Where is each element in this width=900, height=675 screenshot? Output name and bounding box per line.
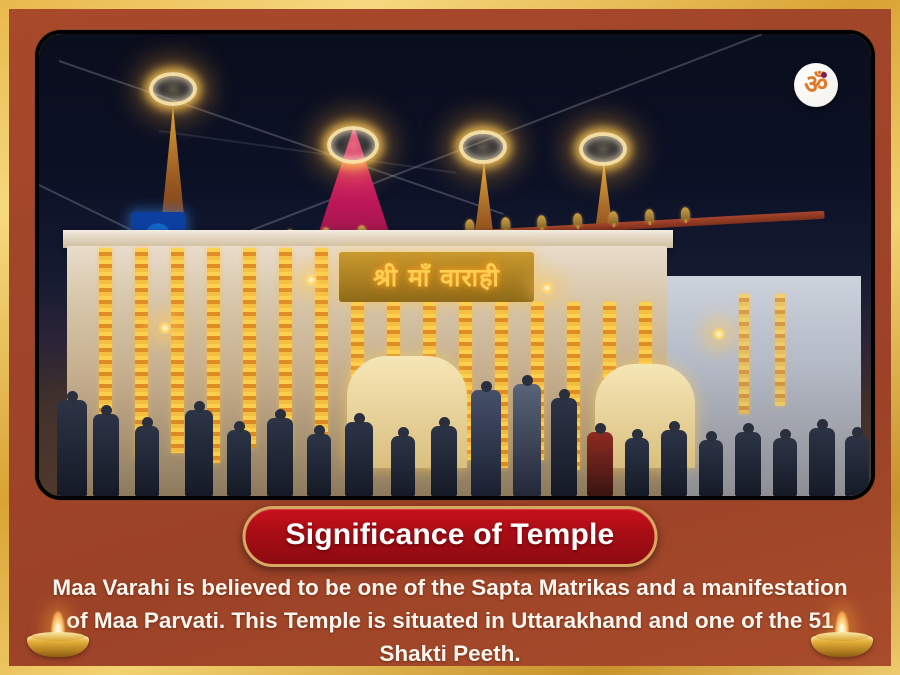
spotlight bbox=[711, 326, 727, 342]
diya-lamp-left-icon bbox=[27, 609, 89, 657]
crowd-person bbox=[735, 432, 761, 496]
crowd-person bbox=[57, 400, 87, 496]
logo-dot-icon bbox=[821, 72, 827, 78]
crowd-person bbox=[661, 430, 687, 496]
crowd-person bbox=[809, 428, 835, 496]
crowd-person bbox=[551, 398, 577, 496]
crowd-person bbox=[471, 390, 501, 496]
temple-signboard-text: श्री माँ वाराही bbox=[373, 260, 500, 294]
hanging-bell bbox=[609, 211, 619, 224]
spire-halo-light bbox=[149, 72, 197, 106]
marigold-garland bbox=[739, 294, 749, 414]
diya-bowl-icon bbox=[27, 636, 89, 657]
overhead-wire bbox=[59, 60, 504, 215]
crowd-person bbox=[185, 410, 213, 496]
hanging-bell bbox=[645, 209, 655, 222]
crowd-person bbox=[431, 426, 457, 496]
diya-lamp-right-icon bbox=[811, 609, 873, 657]
marigold-garland bbox=[243, 248, 256, 448]
crowd-person bbox=[391, 436, 415, 496]
crowd-person bbox=[267, 418, 293, 496]
crowd-person bbox=[699, 440, 723, 496]
crowd-person bbox=[135, 426, 159, 496]
title-banner: Significance of Temple bbox=[243, 506, 658, 567]
hanging-bell bbox=[501, 217, 511, 230]
crowd-person bbox=[513, 384, 541, 496]
diya-bowl-icon bbox=[811, 636, 873, 657]
crowd-person bbox=[307, 434, 331, 496]
crowd-person bbox=[227, 430, 251, 496]
page-title: Significance of Temple bbox=[286, 518, 615, 552]
spire-halo-light bbox=[327, 126, 379, 164]
crowd-person bbox=[625, 438, 649, 496]
marigold-garland bbox=[775, 294, 785, 406]
spire-halo-light bbox=[579, 132, 627, 166]
poster: श्री माँ वाराही bbox=[0, 0, 900, 675]
hanging-bell bbox=[537, 215, 547, 228]
temple-photo-frame: श्री माँ वाराही bbox=[35, 30, 875, 500]
om-ganesha-logo-icon: ॐ bbox=[794, 63, 838, 107]
temple-spire bbox=[161, 106, 185, 226]
crowd-person bbox=[587, 432, 613, 496]
crowd-person bbox=[93, 414, 119, 496]
hanging-bell bbox=[573, 213, 583, 226]
temple-signboard: श्री माँ वाराही bbox=[339, 252, 534, 302]
crowd-person bbox=[773, 438, 797, 496]
spotlight bbox=[157, 320, 173, 336]
poster-background: श्री माँ वाराही bbox=[9, 9, 891, 666]
crowd-person bbox=[845, 436, 869, 496]
temple-photo: श्री माँ वाराही bbox=[39, 34, 871, 496]
spotlight bbox=[539, 280, 555, 296]
crowd-person bbox=[345, 422, 373, 496]
spire-halo-light bbox=[459, 130, 507, 164]
overhead-wire bbox=[159, 130, 456, 174]
marigold-garland bbox=[171, 248, 184, 453]
hanging-bell bbox=[681, 207, 691, 220]
spotlight bbox=[303, 272, 319, 288]
caption-text: Maa Varahi is believed to be one of the … bbox=[50, 571, 850, 666]
